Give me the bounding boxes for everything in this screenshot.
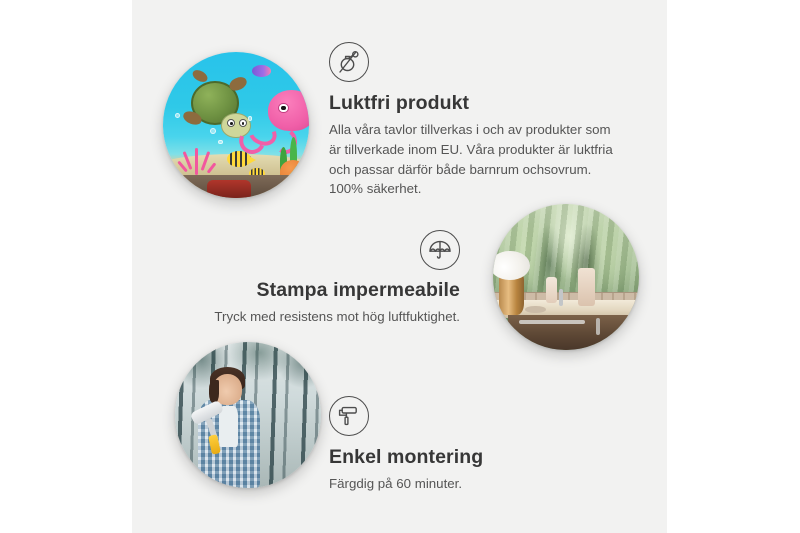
woman-paint-roller-circle-image bbox=[175, 342, 321, 488]
paint-roller-icon bbox=[329, 396, 369, 436]
feature-title: Stampa impermeabile bbox=[170, 278, 460, 302]
feature-block-waterproof-print: Stampa impermeabile Tryck med resistens … bbox=[170, 230, 460, 327]
feature-description: Tryck med resistens mot hög luftfuktighe… bbox=[170, 307, 460, 327]
bathroom-vanity-circle-image bbox=[493, 204, 639, 350]
feature-block-easy-assembly: Enkel montering Färgdig på 60 minuter. bbox=[329, 396, 619, 494]
product-feature-infographic: Luktfri produkt Alla våra tavlor tillver… bbox=[0, 0, 800, 533]
umbrella-icon bbox=[420, 230, 460, 270]
underwater-cartoon-circle-image bbox=[163, 52, 309, 198]
feature-title: Luktfri produkt bbox=[329, 91, 629, 115]
no-fragrance-icon bbox=[329, 42, 369, 82]
feature-description: Färgdig på 60 minuter. bbox=[329, 474, 619, 494]
feature-block-odour-free: Luktfri produkt Alla våra tavlor tillver… bbox=[329, 42, 629, 199]
feature-description: Alla våra tavlor tillverkas i och av pro… bbox=[329, 120, 621, 199]
feature-title: Enkel montering bbox=[329, 445, 619, 469]
